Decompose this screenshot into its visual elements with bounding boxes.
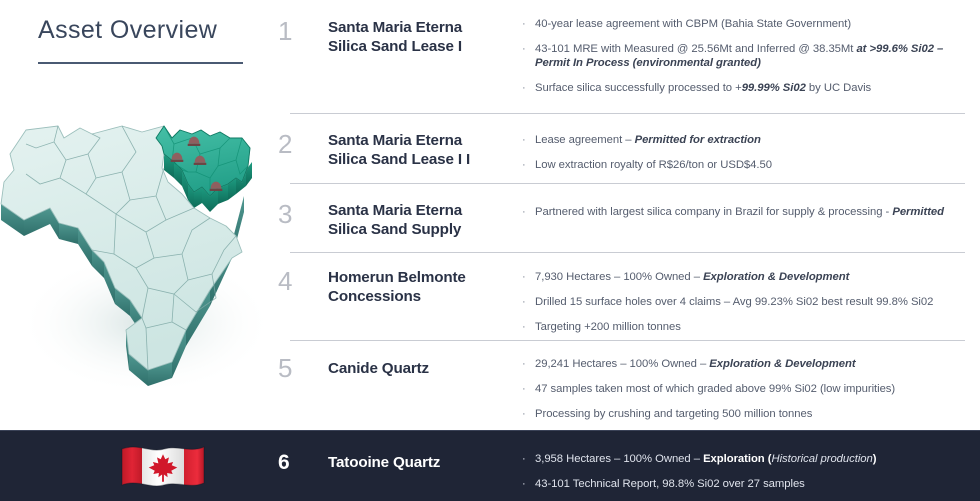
bullet-item: ·Surface silica successfully processed t…: [521, 81, 976, 95]
bullet-marker-icon: ·: [522, 382, 526, 396]
bullet-marker-icon: ·: [522, 452, 526, 466]
bullet-marker-icon: ·: [522, 81, 526, 95]
row-number: 6: [278, 452, 308, 473]
bullet-text-run: Historical production: [771, 453, 872, 465]
bullet-item: ·Lease agreement – Permitted for extract…: [521, 133, 976, 147]
bullet-item: ·47 samples taken most of which graded a…: [521, 382, 976, 396]
row-title: Santa Maria Eterna Silica Sand Lease I: [328, 18, 513, 56]
bullet-item: ·29,241 Hectares – 100% Owned – Explorat…: [521, 357, 976, 371]
bullet-text-run: Processing by crushing and targeting 500…: [535, 408, 812, 420]
bullet-item: ·43-101 MRE with Measured @ 25.56Mt and …: [521, 42, 976, 70]
bullet-text-run: Partnered with largest silica company in…: [535, 206, 892, 218]
row-bullets: ·7,930 Hectares – 100% Owned – Explorati…: [521, 270, 976, 334]
row-number: 4: [278, 268, 308, 294]
bullet-marker-icon: ·: [522, 357, 526, 371]
row-title-line: Homerun Belmonte: [328, 268, 513, 287]
canada-flag-icon: [120, 443, 206, 491]
bullet-text-run: Exploration & Development: [703, 271, 849, 283]
bullet-item: ·40-year lease agreement with CBPM (Bahi…: [521, 17, 976, 31]
bullet-text-run: Targeting +200 million tonnes: [535, 321, 681, 333]
row-bullets: ·Lease agreement – Permitted for extract…: [521, 133, 976, 172]
row-title: Canide Quartz: [328, 359, 513, 378]
bullet-text-run: 3,958 Hectares – 100% Owned –: [535, 453, 703, 465]
bullet-text-run: Permitted for extraction: [635, 134, 761, 146]
title-underline: [38, 62, 243, 64]
bullet-marker-icon: ·: [522, 270, 526, 284]
bullet-marker-icon: ·: [522, 205, 526, 219]
bullet-item: ·43-101 Technical Report, 98.8% Si02 ove…: [521, 477, 976, 491]
bullet-text-run: 7,930 Hectares – 100% Owned –: [535, 271, 703, 283]
row-title-line: Silica Sand Lease I I: [328, 150, 513, 169]
row-title-line: Canide Quartz: [328, 359, 513, 378]
bullet-item: ·Partnered with largest silica company i…: [521, 205, 976, 219]
brazil-3d-map: [0, 108, 276, 420]
row-title: Tatooine Quartz: [328, 453, 513, 472]
left-column: Asset Overview: [0, 0, 278, 501]
bullet-marker-icon: ·: [522, 295, 526, 309]
bullet-text-run: 43-101 Technical Report, 98.8% Si02 over…: [535, 478, 805, 490]
bullet-marker-icon: ·: [522, 158, 526, 172]
slide-root: Asset Overview: [0, 0, 980, 501]
row-number: 2: [278, 131, 308, 157]
row-title-line: Silica Sand Lease I: [328, 37, 513, 56]
bullet-marker-icon: ·: [522, 407, 526, 421]
bullet-marker-icon: ·: [522, 42, 526, 56]
bullet-text-run: 47 samples taken most of which graded ab…: [535, 383, 895, 395]
bullet-item: ·3,958 Hectares – 100% Owned – Explorati…: [521, 452, 976, 466]
footer-band: 6 Tatooine Quartz ·3,958 Hectares – 100%…: [0, 430, 980, 501]
bullet-marker-icon: ·: [522, 133, 526, 147]
row-title: Santa Maria Eterna Silica Sand Supply: [328, 201, 513, 239]
row-bullets: ·40-year lease agreement with CBPM (Bahi…: [521, 17, 976, 95]
page-title: Asset Overview: [38, 16, 258, 45]
bullet-marker-icon: ·: [522, 320, 526, 334]
bullet-text-run: 40-year lease agreement with CBPM (Bahia…: [535, 18, 851, 30]
bullet-text-run: 99.99% Si02: [742, 82, 806, 94]
row-divider: [290, 183, 965, 184]
bullet-marker-icon: ·: [522, 477, 526, 491]
bullet-text-run: Exploration & Development: [709, 358, 855, 370]
row-divider: [290, 340, 965, 341]
bullet-text-run: Lease agreement –: [535, 134, 635, 146]
row-title-line: Santa Maria Eterna: [328, 201, 513, 220]
row-title-line: Tatooine Quartz: [328, 453, 513, 472]
row-number: 1: [278, 18, 308, 44]
row-title: Homerun Belmonte Concessions: [328, 268, 513, 306]
bullet-marker-icon: ·: [522, 17, 526, 31]
bullet-item: ·7,930 Hectares – 100% Owned – Explorati…: [521, 270, 976, 284]
row-title-line: Santa Maria Eterna: [328, 131, 513, 150]
bullet-text-run: ): [873, 453, 877, 465]
row-divider: [290, 252, 965, 253]
row-bullets: ·3,958 Hectares – 100% Owned – Explorati…: [521, 452, 976, 491]
bullet-item: ·Processing by crushing and targeting 50…: [521, 407, 976, 421]
bullet-text-run: 29,241 Hectares – 100% Owned –: [535, 358, 709, 370]
bullet-text-run: Surface silica successfully processed to…: [535, 82, 742, 94]
row-number: 5: [278, 355, 308, 381]
bullet-text-run: 43-101 MRE with Measured @ 25.56Mt and I…: [535, 43, 856, 55]
row-title: Santa Maria Eterna Silica Sand Lease I I: [328, 131, 513, 169]
bullet-text-run: Exploration: [703, 453, 768, 465]
bullet-item: ·Targeting +200 million tonnes: [521, 320, 976, 334]
row-number: 3: [278, 201, 308, 227]
bullet-item: ·Drilled 15 surface holes over 4 claims …: [521, 295, 976, 309]
bullet-text-run: Drilled 15 surface holes over 4 claims –…: [535, 296, 933, 308]
row-title-line: Silica Sand Supply: [328, 220, 513, 239]
row-bullets: ·29,241 Hectares – 100% Owned – Explorat…: [521, 357, 976, 421]
row-divider: [290, 113, 965, 114]
footer-top-edge: [0, 430, 980, 431]
row-title-line: Santa Maria Eterna: [328, 18, 513, 37]
bullet-text-run: by UC Davis: [806, 82, 871, 94]
row-bullets: ·Partnered with largest silica company i…: [521, 205, 976, 219]
bullet-text-run: Permitted: [892, 206, 944, 218]
row-title-line: Concessions: [328, 287, 513, 306]
bullet-item: ·Low extraction royalty of R$26/ton or U…: [521, 158, 976, 172]
bullet-text-run: Low extraction royalty of R$26/ton or US…: [535, 159, 772, 171]
